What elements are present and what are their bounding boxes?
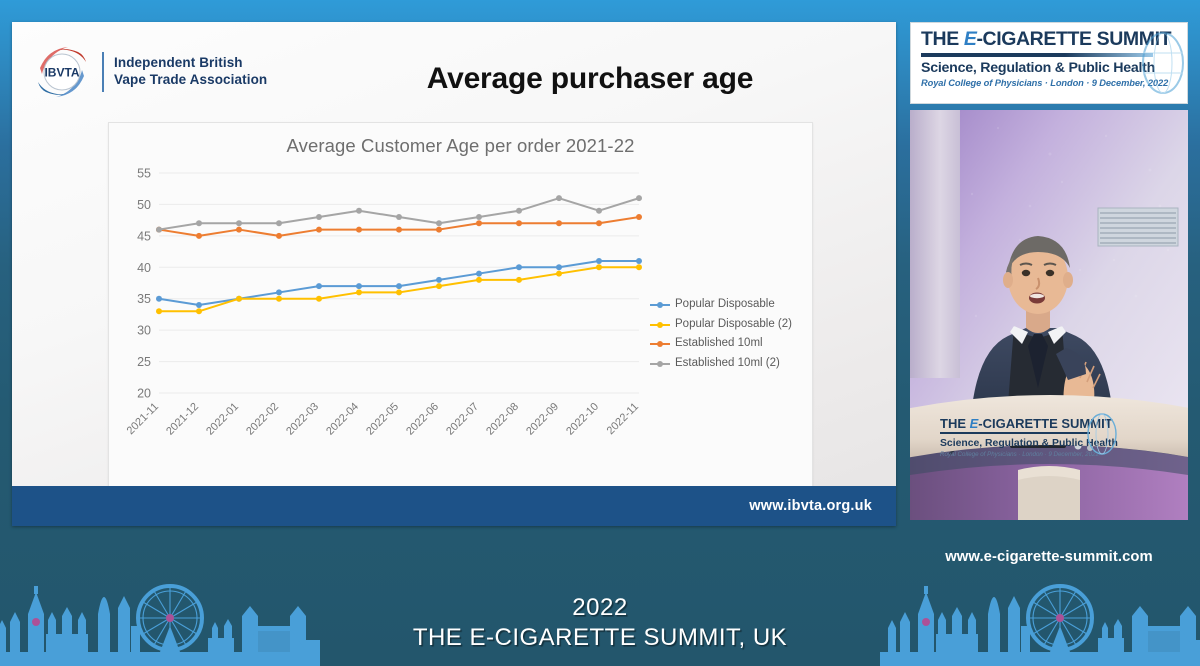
series-point (156, 296, 162, 302)
slide-canvas: IBVTA Independent British Vape Trade Ass… (12, 22, 896, 526)
bottom-caption: 2022 THE E-CIGARETTE SUMMIT, UK (0, 593, 1200, 652)
series-point (196, 308, 202, 314)
ibvta-logo: IBVTA Independent British Vape Trade Ass… (34, 44, 267, 100)
legend-item-1[interactable]: Popular Disposable (2) (649, 318, 792, 330)
x-axis-tick-label: 2022-03 (284, 401, 321, 438)
legend-item-0[interactable]: Popular Disposable (649, 298, 792, 310)
series-point (276, 296, 282, 302)
series-point (356, 208, 362, 214)
series-point (316, 214, 322, 220)
chart-title: Average Customer Age per order 2021-22 (109, 135, 812, 157)
series-point (396, 227, 402, 233)
ibvta-logo-mark-text: IBVTA (44, 66, 79, 80)
stage-column (910, 110, 960, 378)
series-point (476, 214, 482, 220)
caption-event-name: THE E-CIGARETTE SUMMIT, UK (0, 623, 1200, 652)
series-point (636, 258, 642, 264)
series-point (316, 283, 322, 289)
lectern-venue-date: Royal College of Physicians · London · 9… (940, 451, 1099, 458)
banner-title-the: THE (921, 28, 964, 50)
series-point (516, 220, 522, 226)
series-point (596, 220, 602, 226)
page-title: Average purchaser age (312, 62, 868, 96)
summit-globe-icon (1141, 31, 1185, 95)
x-axis-tick-label: 2022-01 (204, 401, 241, 438)
series-point (276, 289, 282, 295)
legend-swatch-icon (649, 337, 671, 349)
lectern-title: THE E-CIGARETTE SUMMIT (940, 416, 1113, 431)
series-point (516, 277, 522, 283)
legend-item-3[interactable]: Established 10ml (2) (649, 357, 792, 369)
x-axis-tick-label: 2022-09 (524, 401, 561, 438)
y-axis-tick-label: 20 (137, 387, 151, 401)
series-point (236, 296, 242, 302)
x-axis-tick-label: 2022-05 (364, 401, 401, 438)
x-axis-tick-label: 2022-07 (444, 401, 481, 438)
x-axis-tick-label: 2022-10 (564, 401, 601, 438)
series-point (556, 264, 562, 270)
series-point (556, 271, 562, 277)
chart-container: Average Customer Age per order 2021-22 2… (108, 122, 813, 512)
summit-website-url: www.e-cigarette-summit.com (910, 549, 1188, 565)
banner-divider (921, 53, 1153, 57)
series-point (396, 289, 402, 295)
ibvta-logo-name: Independent British Vape Trade Associati… (114, 55, 267, 89)
x-axis-tick-label: 2022-02 (244, 401, 281, 438)
lectern-branding: THE E-CIGARETTE SUMMIT Science, Regulati… (910, 395, 1188, 458)
series-point (196, 220, 202, 226)
series-point (156, 227, 162, 233)
ibvta-name-line1: Independent British (114, 55, 267, 72)
y-axis-tick-label: 55 (137, 167, 151, 181)
slide-footer-bar: www.ibvta.org.uk (12, 486, 896, 526)
legend-item-2[interactable]: Established 10ml (649, 337, 792, 349)
presentation-page: IBVTA Independent British Vape Trade Ass… (0, 0, 1200, 666)
summit-banner: THE E-CIGARETTE SUMMIT Science, Regulati… (910, 22, 1188, 104)
series-point (316, 296, 322, 302)
series-point (636, 214, 642, 220)
series-point (596, 258, 602, 264)
speaker-video-frame: THE E-CIGARETTE SUMMIT Science, Regulati… (910, 110, 1188, 520)
wall-vent (1098, 208, 1178, 246)
legend-swatch-icon (649, 298, 671, 310)
series-point (236, 227, 242, 233)
series-point (196, 233, 202, 239)
series-point (596, 208, 602, 214)
series-point (436, 277, 442, 283)
series-point (636, 264, 642, 270)
legend-swatch-icon (649, 318, 671, 330)
series-point (236, 220, 242, 226)
series-point (316, 227, 322, 233)
series-point (436, 283, 442, 289)
chart-plot-area: 20253035404550552021-112021-122022-01202… (119, 165, 649, 465)
series-point (556, 220, 562, 226)
banner-title-e: E (964, 28, 977, 50)
y-axis-tick-label: 25 (137, 355, 151, 369)
logo-divider (102, 52, 104, 92)
series-point (356, 289, 362, 295)
series-point (356, 283, 362, 289)
ibvta-logo-mark-icon: IBVTA (34, 44, 90, 100)
series-point (436, 227, 442, 233)
x-axis-tick-label: 2022-11 (605, 401, 641, 437)
series-point (516, 208, 522, 214)
legend-label: Established 10ml (675, 337, 763, 349)
ibvta-website-url: www.ibvta.org.uk (749, 498, 872, 514)
series-line-3 (159, 198, 639, 229)
legend-swatch-icon (649, 357, 671, 369)
chart-legend: Popular DisposablePopular Disposable (2)… (649, 298, 792, 369)
series-point (476, 220, 482, 226)
y-axis-tick-label: 35 (137, 292, 151, 306)
series-point (436, 220, 442, 226)
x-axis-tick-label: 2021-12 (164, 401, 201, 438)
series-line-1 (159, 267, 639, 311)
x-axis-tick-label: 2022-08 (484, 401, 521, 438)
speaker-video-panel[interactable]: THE E-CIGARETTE SUMMIT Science, Regulati… (910, 110, 1188, 520)
series-point (516, 264, 522, 270)
series-point (556, 195, 562, 201)
series-point (596, 264, 602, 270)
y-axis-tick-label: 40 (137, 261, 151, 275)
series-point (476, 271, 482, 277)
caption-year: 2022 (0, 593, 1200, 622)
y-axis-tick-label: 50 (137, 198, 151, 212)
series-point (276, 233, 282, 239)
series-point (156, 308, 162, 314)
series-point (476, 277, 482, 283)
legend-label: Established 10ml (2) (675, 357, 780, 369)
x-axis-tick-label: 2022-06 (404, 401, 441, 438)
line-chart-svg: 20253035404550552021-112021-122022-01202… (119, 165, 649, 465)
series-point (636, 195, 642, 201)
y-axis-tick-label: 30 (137, 324, 151, 338)
series-point (356, 227, 362, 233)
x-axis-tick-label: 2022-04 (324, 401, 361, 438)
legend-label: Popular Disposable (2) (675, 318, 792, 330)
series-point (396, 214, 402, 220)
legend-label: Popular Disposable (675, 298, 775, 310)
ibvta-name-line2: Vape Trade Association (114, 72, 267, 89)
series-point (276, 220, 282, 226)
series-point (196, 302, 202, 308)
y-axis-tick-label: 45 (137, 229, 151, 243)
x-axis-tick-label: 2021-11 (125, 401, 161, 437)
series-point (396, 283, 402, 289)
